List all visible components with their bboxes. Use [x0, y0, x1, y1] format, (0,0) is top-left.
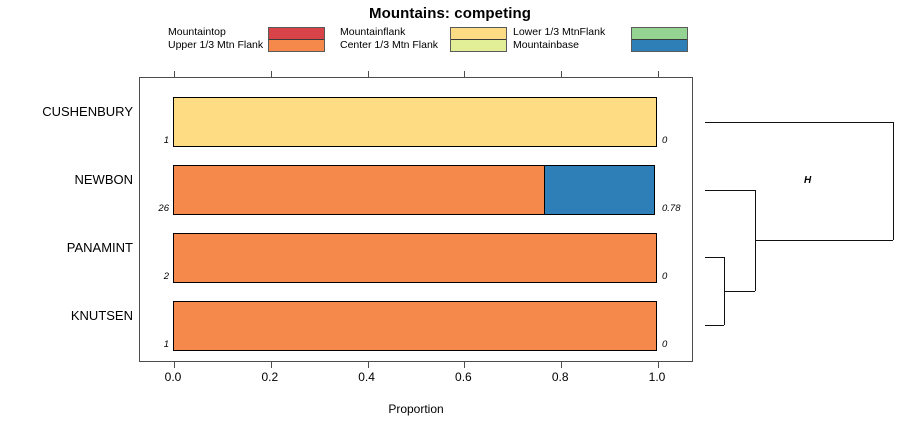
dendro-leaf-cushenbury: [705, 122, 893, 123]
x-tick-mark: [464, 71, 465, 78]
dendro-leaf-knutsen: [705, 325, 724, 326]
x-tick-mark: [658, 361, 659, 368]
legend: Mountaintop Upper 1/3 Mtn Flank Mountain…: [168, 26, 688, 60]
dendro-leaf-panamint: [705, 257, 724, 258]
stacked-bar-knutsen[interactable]: [173, 301, 657, 351]
chart-canvas: Mountains: competing Mountaintop Upper 1…: [0, 0, 900, 440]
stacked-bar-newbon[interactable]: [173, 165, 657, 215]
bar-segment[interactable]: [544, 165, 655, 215]
dendrogram: [700, 77, 900, 362]
legend-labels-2: Mountainflank Center 1/3 Mtn Flank: [340, 26, 438, 51]
dendro-branch-node-b: [755, 240, 893, 241]
legend-label-mountaintop: Mountaintop: [168, 26, 263, 39]
stacked-bar-cushenbury[interactable]: [173, 97, 657, 147]
x-tick-label: 0.8: [530, 370, 590, 384]
legend-column-1: Mountaintop Upper 1/3 Mtn Flank: [168, 26, 328, 60]
legend-swatch-mountainflank: [451, 28, 506, 40]
bar-segment[interactable]: [173, 97, 657, 147]
legend-label-lower-third-mtn-flank: Lower 1/3 MtnFlank: [513, 26, 605, 39]
dendro-leaf-newbon: [705, 190, 755, 191]
x-tick-mark: [561, 71, 562, 78]
legend-column-2: Mountainflank Center 1/3 Mtn Flank: [340, 26, 506, 60]
legend-swatches-2: [450, 27, 507, 52]
dendro-branch-node-a: [724, 291, 755, 292]
bar-segment[interactable]: [173, 233, 657, 283]
x-tick-label: 0.2: [240, 370, 300, 384]
x-tick-mark: [658, 71, 659, 78]
bar-segment[interactable]: [173, 301, 657, 351]
dendro-root-join: [893, 122, 894, 240]
chart-title: Mountains: competing: [0, 5, 900, 22]
x-tick-mark: [271, 71, 272, 78]
legend-swatch-upper-third-mtn-flank: [269, 40, 324, 51]
category-label-panamint: PANAMINT: [3, 240, 133, 255]
n-value-newbon: 26: [143, 203, 169, 214]
legend-swatches-3: [631, 27, 688, 52]
legend-swatch-mountaintop: [269, 28, 324, 40]
legend-label-upper-third-mtn-flank: Upper 1/3 Mtn Flank: [168, 39, 263, 52]
h-value-newbon: 0.78: [662, 203, 696, 214]
x-tick-label: 1.0: [627, 370, 687, 384]
x-tick-mark: [464, 361, 465, 368]
x-tick-label: 0.0: [143, 370, 203, 384]
x-tick-mark: [561, 361, 562, 368]
legend-label-mountainflank: Mountainflank: [340, 26, 438, 39]
stacked-bar-panamint[interactable]: [173, 233, 657, 283]
legend-labels-3: Lower 1/3 MtnFlank Mountainbase: [513, 26, 605, 51]
x-tick-mark: [368, 71, 369, 78]
x-tick-mark: [174, 361, 175, 368]
x-tick-mark: [271, 361, 272, 368]
x-tick-mark: [174, 71, 175, 78]
h-value-cushenbury: 0: [662, 135, 696, 146]
h-value-knutsen: 0: [662, 339, 696, 350]
n-value-cushenbury: 1: [143, 135, 169, 146]
category-label-knutsen: KNUTSEN: [3, 308, 133, 323]
n-value-panamint: 2: [143, 271, 169, 282]
legend-swatch-mountainbase: [632, 40, 687, 51]
x-tick-mark: [368, 361, 369, 368]
n-value-knutsen: 1: [143, 339, 169, 350]
legend-labels-1: Mountaintop Upper 1/3 Mtn Flank: [168, 26, 263, 51]
legend-label-mountainbase: Mountainbase: [513, 39, 605, 52]
legend-swatch-lower-third-mtn-flank: [632, 28, 687, 40]
x-axis-title: Proportion: [139, 402, 693, 416]
legend-label-center-third-mtn-flank: Center 1/3 Mtn Flank: [340, 39, 438, 52]
h-value-panamint: 0: [662, 271, 696, 282]
bar-segment[interactable]: [173, 165, 546, 215]
category-label-cushenbury: CUSHENBURY: [3, 104, 133, 119]
x-tick-label: 0.6: [433, 370, 493, 384]
legend-swatch-center-third-mtn-flank: [451, 40, 506, 51]
category-axis-labels: CUSHENBURYNEWBONPANAMINTKNUTSEN: [0, 0, 133, 440]
legend-column-3: Lower 1/3 MtnFlank Mountainbase: [513, 26, 688, 60]
legend-swatches-1: [268, 27, 325, 52]
x-tick-label: 0.4: [337, 370, 397, 384]
category-label-newbon: NEWBON: [3, 172, 133, 187]
